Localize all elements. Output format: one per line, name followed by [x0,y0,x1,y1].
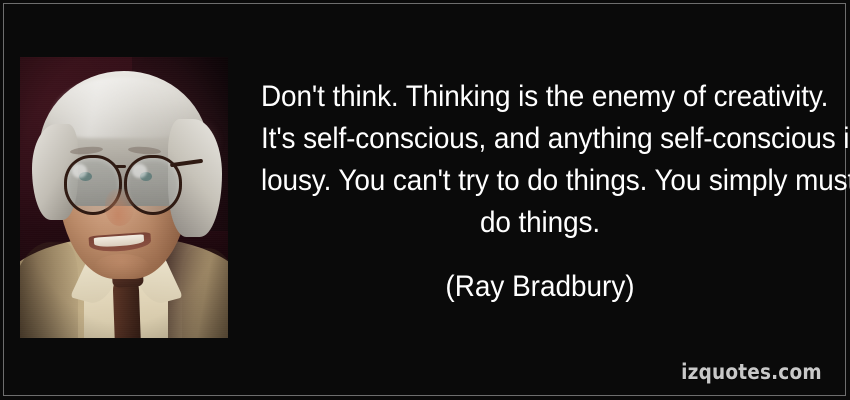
quote-text: Don't think. Thinking is the enemy of cr… [240,76,840,244]
author-portrait-photo [20,57,228,338]
portrait-eyeglass-bridge [115,165,126,168]
portrait-nose [105,189,134,226]
portrait-tie [112,281,141,338]
quote-line: It's self-conscious, and anything self-c… [261,118,819,160]
portrait-lens-glint-left [72,164,87,178]
site-watermark: izquotes.com [681,360,822,384]
quote-attribution: (Ray Bradbury) [261,268,819,306]
portrait-jacket-shadow-right [182,248,228,338]
portrait-lens-glint-right [132,164,147,178]
quote-line: Don't think. Thinking is the enemy of cr… [261,76,819,118]
quote-line: lousy. You can't try to do things. You s… [261,160,819,202]
portrait-jacket-shadow-left [20,242,78,338]
portrait-chin [95,254,149,279]
quote-line: do things. [261,202,819,244]
quote-image-canvas: Don't think. Thinking is the enemy of cr… [0,0,850,400]
